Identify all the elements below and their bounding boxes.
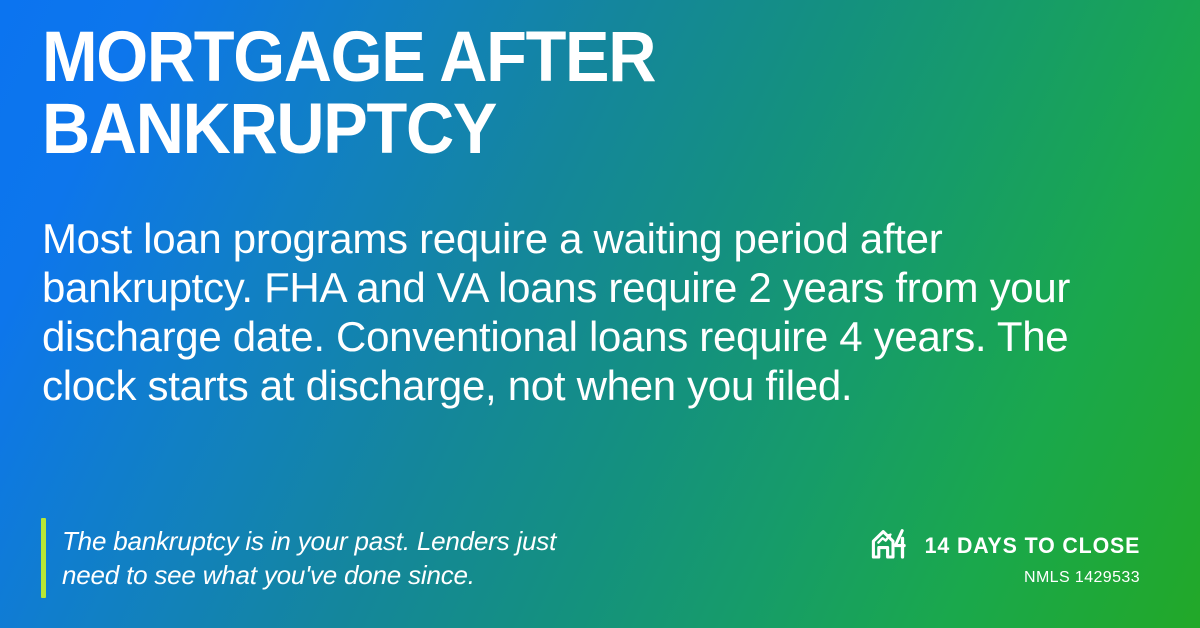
logo-nmls-number: NMLS 1429533	[871, 568, 1140, 588]
body-paragraph: Most loan programs require a waiting per…	[42, 214, 1072, 410]
page-title: Mortgage After Bankruptcy	[42, 22, 982, 166]
social-card: Mortgage After Bankruptcy Most loan prog…	[0, 0, 1200, 628]
brand-logo: 14 DAYS TO CLOSE NMLS 1429533	[871, 528, 1140, 588]
quote-accent-bar	[41, 518, 46, 598]
logo-name: 14 DAYS TO CLOSE	[924, 534, 1140, 558]
logo-row: 14 DAYS TO CLOSE	[871, 528, 1140, 564]
quote-text: The bankruptcy is in your past. Lenders …	[62, 524, 556, 592]
house-chart-icon	[871, 528, 909, 564]
pull-quote: The bankruptcy is in your past. Lenders …	[41, 518, 556, 598]
